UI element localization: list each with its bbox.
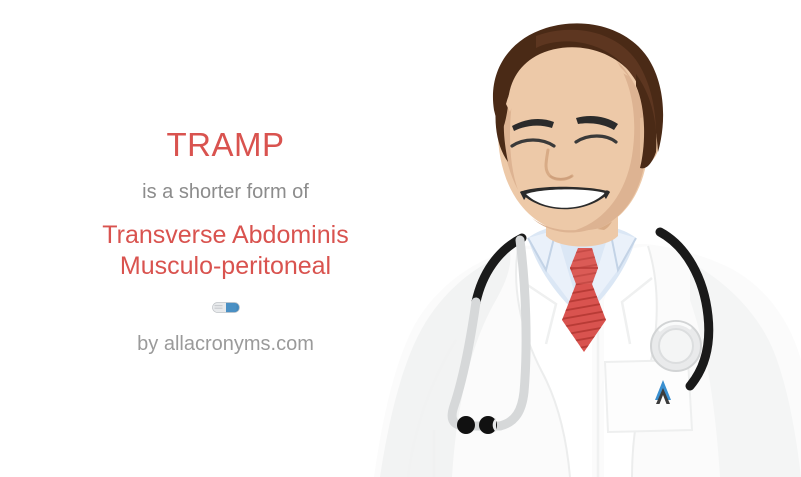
pill-icon-wrap (212, 301, 240, 315)
expansion-line-2: Musculo-peritoneal (102, 251, 348, 282)
stethoscope-eartip-left (457, 416, 475, 434)
capsule-pill-icon (212, 302, 240, 313)
attribution-text: by allacronyms.com (137, 334, 314, 354)
stethoscope-chestpiece (651, 321, 701, 371)
acronym-text-panel: TRAMP is a shorter form of Transverse Ab… (0, 0, 451, 477)
expansion-line-1: Transverse Abdominis (102, 220, 348, 251)
relation-text: is a shorter form of (142, 182, 309, 202)
acronym-title: TRAMP (167, 128, 285, 161)
acronym-expansion: Transverse Abdominis Musculo-peritoneal (102, 220, 348, 283)
page-root: TRAMP is a shorter form of Transverse Ab… (0, 0, 801, 477)
